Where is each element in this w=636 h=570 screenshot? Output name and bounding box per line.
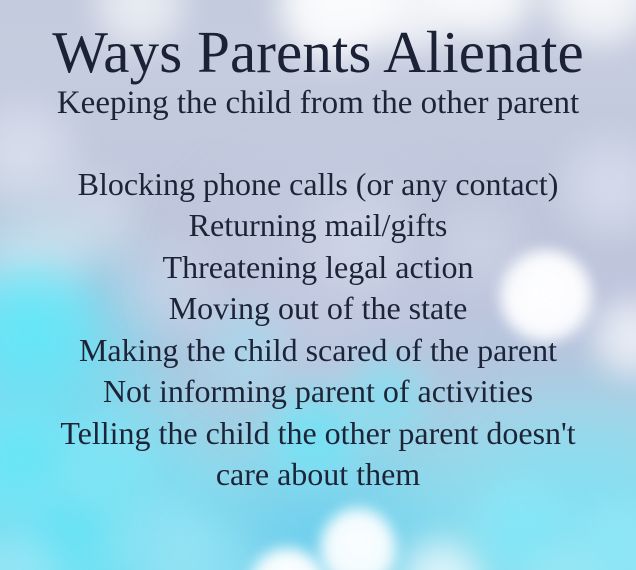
list-item: Returning mail/gifts bbox=[0, 205, 636, 247]
alienation-list: Blocking phone calls (or any contact) Re… bbox=[0, 164, 636, 496]
poster-content: Ways Parents Alienate Keeping the child … bbox=[0, 0, 636, 570]
poster: Ways Parents Alienate Keeping the child … bbox=[0, 0, 636, 570]
list-item: Making the child scared of the parent bbox=[0, 330, 636, 372]
page-title: Ways Parents Alienate bbox=[52, 0, 584, 83]
page-subtitle: Keeping the child from the other parent bbox=[57, 83, 579, 121]
list-item: Telling the child the other parent doesn… bbox=[0, 413, 636, 496]
list-item: Blocking phone calls (or any contact) bbox=[0, 164, 636, 206]
list-item: Moving out of the state bbox=[0, 288, 636, 330]
list-item: Threatening legal action bbox=[0, 247, 636, 289]
list-item: Not informing parent of activities bbox=[0, 371, 636, 413]
